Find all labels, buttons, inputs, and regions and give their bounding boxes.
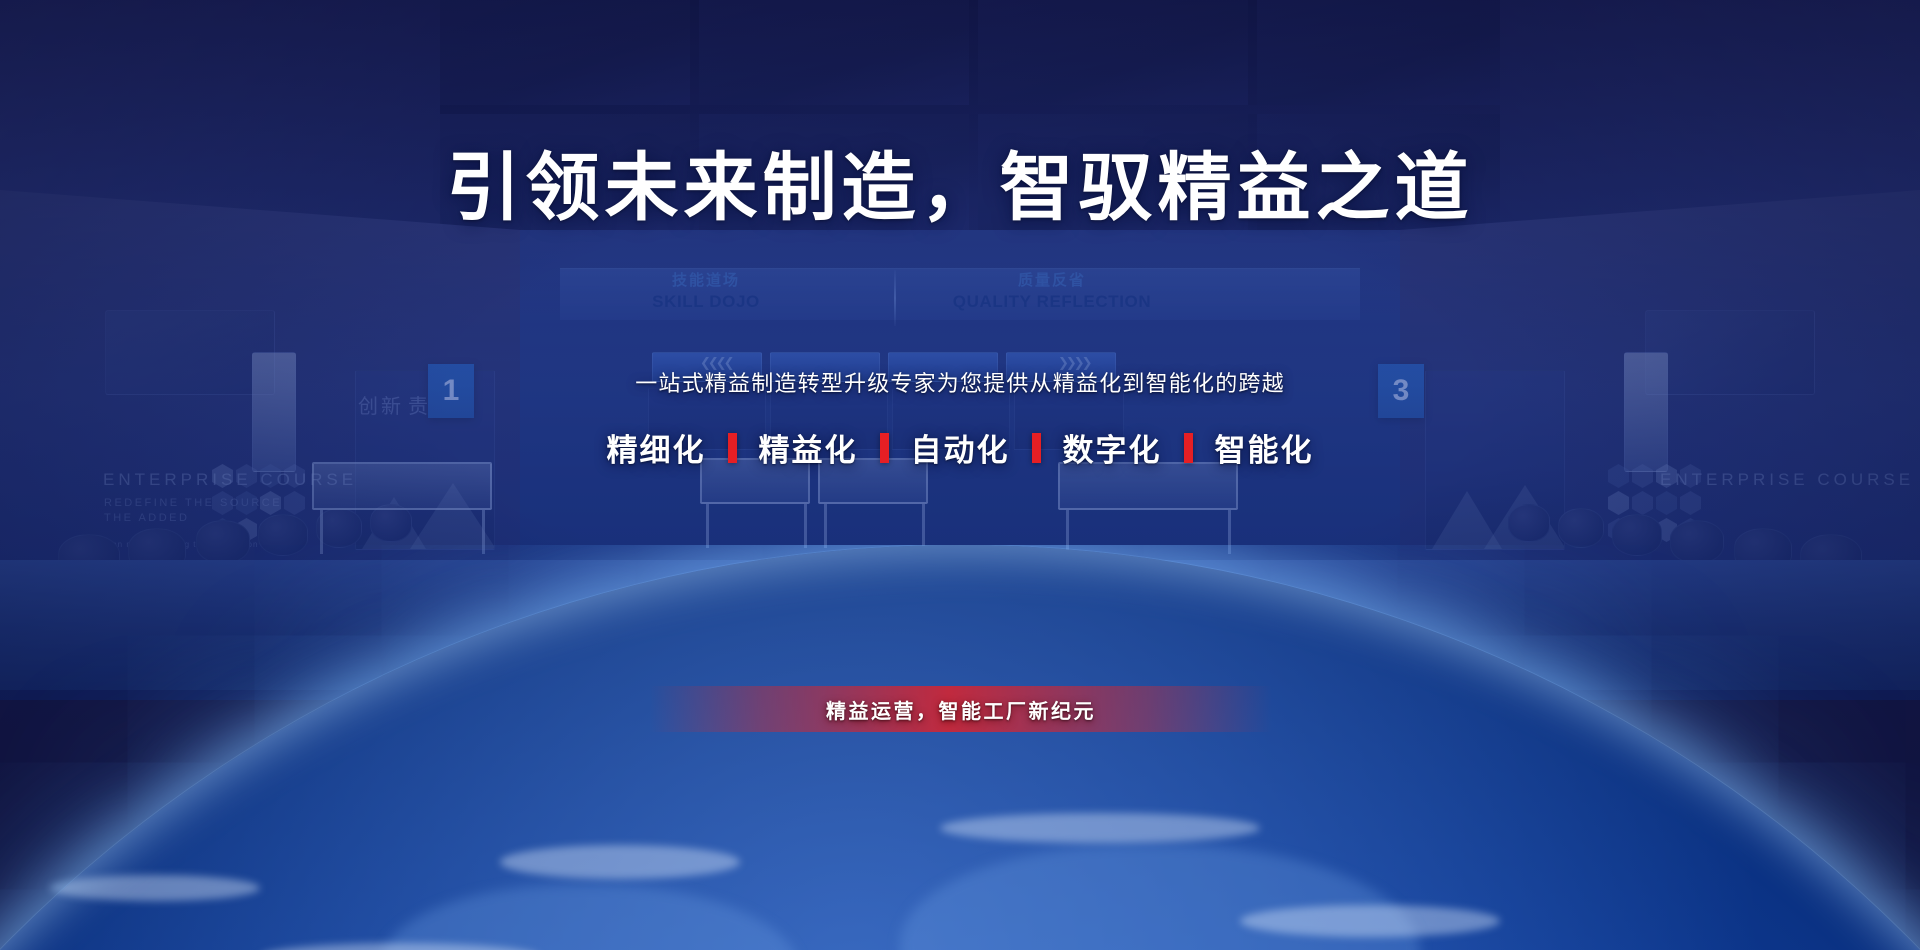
keyword-separator-icon <box>1184 433 1193 463</box>
hero-headline: 引领未来制造，智驭精益之道 <box>0 128 1920 235</box>
cta-banner-label: 精益运营，智能工厂新纪元 <box>826 695 1096 724</box>
hero-banner: 技能道场 SKILL DOJO 质量反省 QUALITY REFLECTION … <box>0 0 1920 950</box>
keyword-separator-icon <box>728 433 737 463</box>
cta-banner[interactable]: 精益运营，智能工厂新纪元 <box>650 686 1272 732</box>
keyword-item-5: 智能化 <box>1193 425 1336 470</box>
hero-subtitle: 一站式精益制造转型升级专家为您提供从精益化到智能化的跨越 <box>0 366 1920 398</box>
hero-content: 引领未来制造，智驭精益之道 一站式精益制造转型升级专家为您提供从精益化到智能化的… <box>0 0 1920 950</box>
keyword-item-3: 自动化 <box>889 425 1032 470</box>
keyword-item-4: 数字化 <box>1041 425 1184 470</box>
keyword-item-1: 精细化 <box>585 425 728 470</box>
keyword-separator-icon <box>880 433 889 463</box>
keyword-item-2: 精益化 <box>737 425 880 470</box>
keyword-separator-icon <box>1032 433 1041 463</box>
hero-keyword-list: 精细化 精益化 自动化 数字化 智能化 <box>0 425 1920 470</box>
